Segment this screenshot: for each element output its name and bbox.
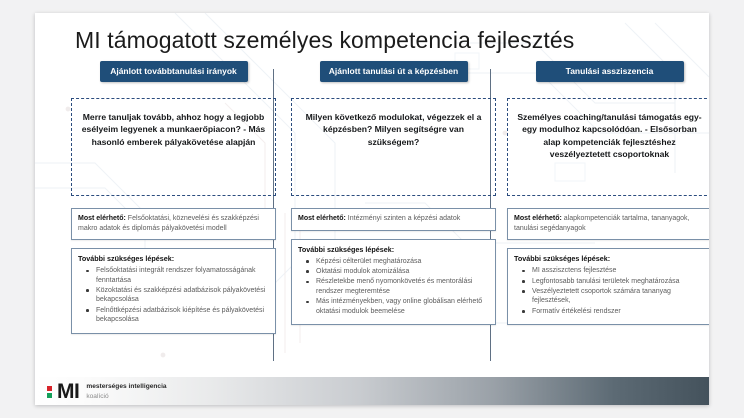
logo-wordmark: MI [57,382,79,401]
list-item: Közoktatási és szakképzési adatbázisok p… [96,286,269,305]
list-item: Oktatási modulok atomizálása [316,267,489,276]
column-1: Ajánlott továbbtanulási irányok Merre ta… [71,61,276,334]
column-1-steps-box: További szükséges lépések: Felsőoktatási… [71,248,276,333]
list-item: Formatív értékelési rendszer [532,307,705,316]
column-header-ajanlott-tovabbtanulasi-iranyok: Ajánlott továbbtanulási irányok [100,61,248,82]
column-header-tanulasi-assziszencia: Tanulási assziszencia [536,61,684,82]
column-1-steps-title: További szükséges lépések: [78,254,269,263]
list-item: Képzési célterület meghatározása [316,257,489,266]
column-3-steps-title: További szükséges lépések: [514,254,705,263]
logo-squares-icon [47,386,52,398]
column-2-steps-title: További szükséges lépések: [298,245,489,254]
column-3-available-label: Most elérhető: [514,215,562,222]
page-title: MI támogatott személyes kompetencia fejl… [75,27,574,54]
column-2: Ajánlott tanulási út a képzésben Milyen … [291,61,496,325]
column-header-ajanlott-tanulasi-ut-a-kepzesben: Ajánlott tanulási út a képzésben [320,61,468,82]
presentation-slide: MI támogatott személyes kompetencia fejl… [35,13,709,405]
list-item: MI assziszctens fejlesztése [532,266,705,275]
column-3-header-wrap: Tanulási assziszencia [507,61,709,82]
column-1-question-box: Merre tanuljak tovább, ahhoz hogy a legj… [71,98,276,196]
list-item: Felsőoktatási integrált rendszer folyama… [96,266,269,285]
column-3: Tanulási assziszencia Személyes coaching… [507,61,709,325]
column-2-available-box: Most elérhető: Intézményi szinten a képz… [291,208,496,231]
logo-line-1: mesterséges intelligencia [86,383,166,391]
column-3-steps-box: További szükséges lépések: MI assziszcte… [507,248,709,325]
list-item: Más intézményekben, vagy online globális… [316,297,489,316]
logo-line-2: koalíció [86,393,166,401]
column-1-header-wrap: Ajánlott továbbtanulási irányok [71,61,276,82]
list-item: Felnőttképzési adatbázisok kiépítése és … [96,306,269,325]
logo-red-square-icon [47,386,52,391]
column-1-steps-list: Felsőoktatási integrált rendszer folyama… [78,266,269,324]
column-2-available-text: Intézményi szinten a képzési adatok [346,215,460,222]
column-3-steps-list: MI assziszctens fejlesztése Legfontosabb… [514,266,705,316]
list-item: Részletekbe menő nyomonkövetés és mentor… [316,277,489,296]
column-3-question-box: Személyes coaching/tanulási támogatás eg… [507,98,709,196]
column-2-steps-list: Képzési célterület meghatározása Oktatás… [298,257,489,316]
column-2-header-wrap: Ajánlott tanulási út a képzésben [291,61,496,82]
list-item: Veszélyeztetett csoportok számára tanany… [532,287,705,306]
column-2-question-box: Milyen következő modulokat, végezzek el … [291,98,496,196]
column-2-available-label: Most elérhető: [298,215,346,222]
mi-koalicio-logo: MI mesterséges intelligencia koalíció [47,382,167,401]
column-2-steps-box: További szükséges lépések: Képzési célte… [291,239,496,325]
column-1-available-box: Most elérhető: Felsőoktatási, köznevelés… [71,208,276,240]
column-3-available-box: Most elérhető: alapkompetenciák tartalma… [507,208,709,240]
list-item: Legfontosabb tanulási területek meghatár… [532,277,705,286]
slide-footer-bar: MI mesterséges intelligencia koalíció [35,377,709,405]
column-1-available-label: Most elérhető: [78,215,126,222]
logo-green-square-icon [47,393,52,398]
columns-container: Ajánlott továbbtanulási irányok Merre ta… [35,61,709,361]
logo-text: mesterséges intelligencia koalíció [86,383,166,401]
